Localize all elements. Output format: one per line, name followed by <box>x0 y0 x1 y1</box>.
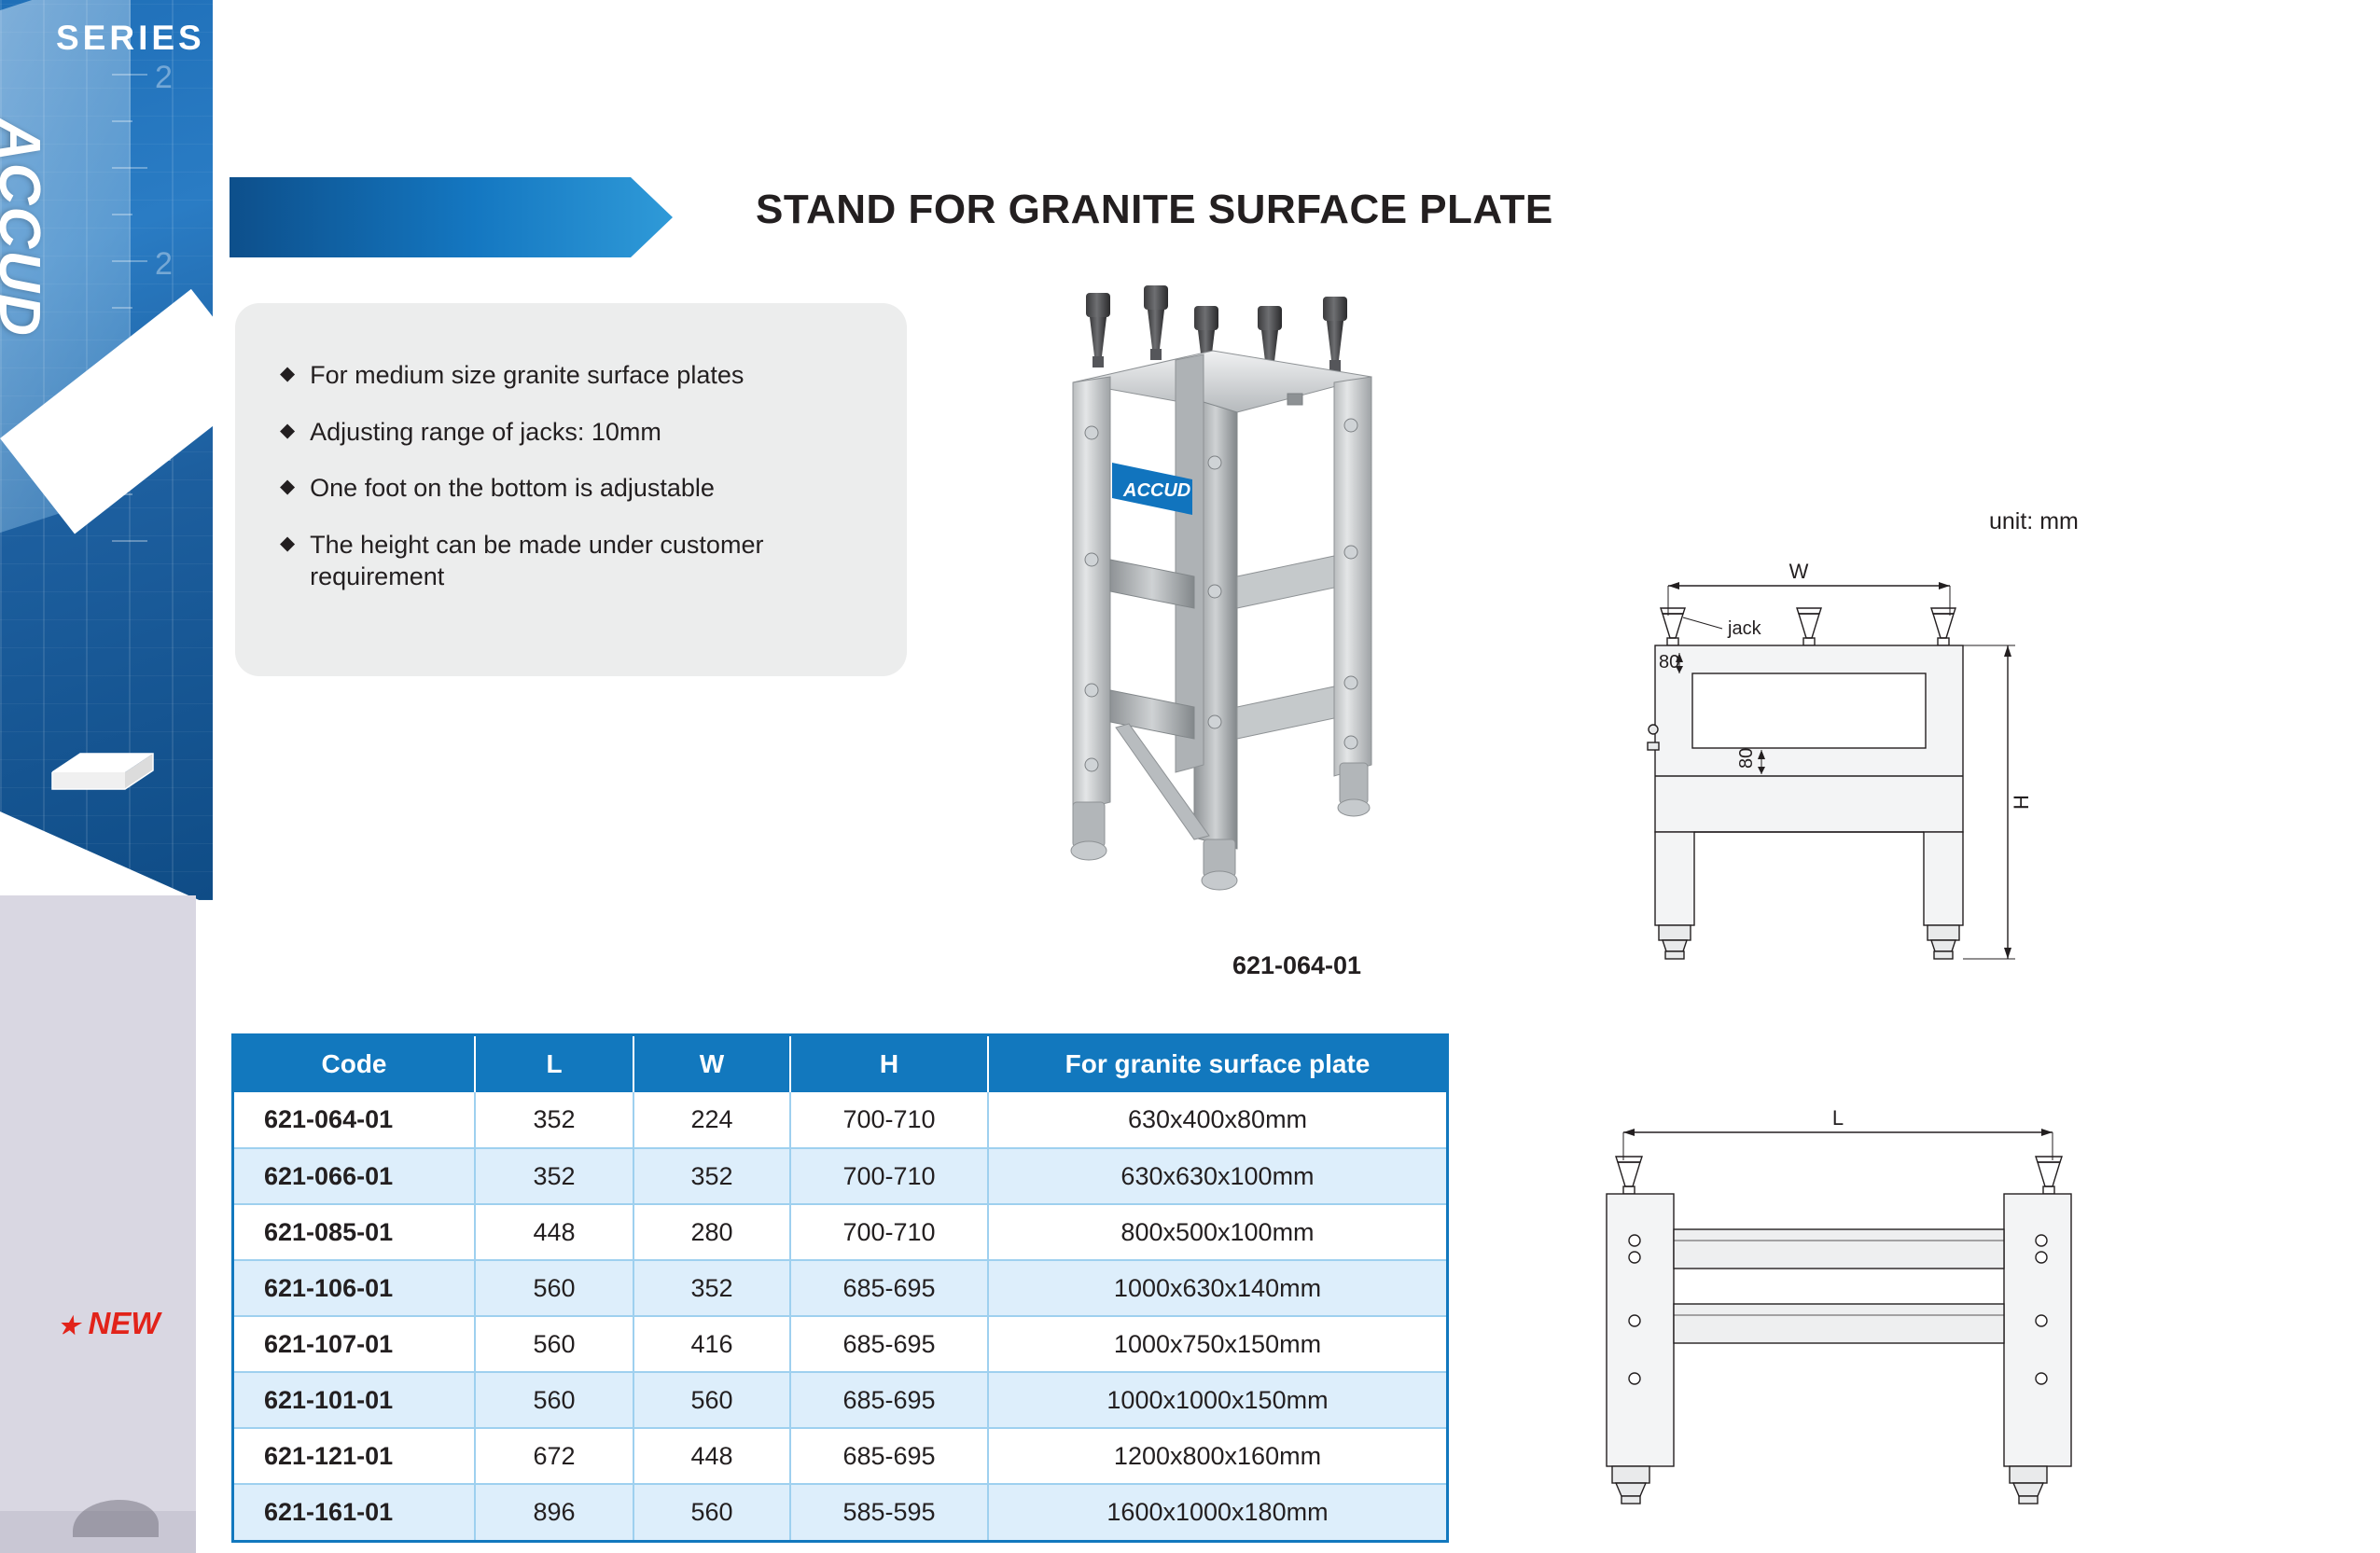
list-item: ◆ Adjusting range of jacks: 10mm <box>280 416 877 449</box>
gauge-icon <box>65 1492 168 1548</box>
list-item: ◆ One foot on the bottom is adjustable <box>280 472 877 505</box>
dim-label-lower-thickness: 80 <box>1736 748 1757 769</box>
column-header-h: H <box>790 1036 988 1092</box>
cell-plate: 1000x630x140mm <box>988 1260 1446 1316</box>
cell-w: 352 <box>633 1148 790 1204</box>
unit-note: unit: mm <box>1989 508 2079 535</box>
cell-h: 685-695 <box>790 1428 988 1484</box>
cell-plate: 800x500x100mm <box>988 1204 1446 1260</box>
column-header-code: Code <box>234 1036 475 1092</box>
cell-h: 700-710 <box>790 1092 988 1148</box>
cell-plate: 1000x750x150mm <box>988 1316 1446 1372</box>
table-row: 621-121-01 672 448 685-695 1200x800x160m… <box>234 1428 1446 1484</box>
table-row: 621-107-01 560 416 685-695 1000x750x150m… <box>234 1316 1446 1372</box>
diamond-bullet-icon: ◆ <box>280 359 295 389</box>
cell-l: 896 <box>475 1484 633 1540</box>
dim-label-h: H <box>2010 795 2033 810</box>
cell-plate: 630x400x80mm <box>988 1092 1446 1148</box>
cell-h: 700-710 <box>790 1204 988 1260</box>
cell-l: 448 <box>475 1204 633 1260</box>
cell-w: 280 <box>633 1204 790 1260</box>
feature-text: The height can be made under customer re… <box>310 529 842 593</box>
front-view-drawing: W jack 80 80 H <box>1642 560 2109 989</box>
column-header-l: L <box>475 1036 633 1092</box>
list-item: ◆ For medium size granite surface plates <box>280 359 877 392</box>
spec-table: Code L W H For granite surface plate 621… <box>234 1036 1446 1540</box>
ruler-ticks-graphic: 2 2 2 <box>112 56 196 709</box>
diamond-bullet-icon: ◆ <box>280 529 295 559</box>
cell-l: 560 <box>475 1316 633 1372</box>
cell-l: 560 <box>475 1260 633 1316</box>
granite-plate-icon <box>49 737 157 802</box>
dim-label-jack: jack <box>1727 618 1762 639</box>
column-header-w: W <box>633 1036 790 1092</box>
photo-caption: 621-064-01 <box>1110 951 1483 980</box>
cell-code: 621-085-01 <box>234 1204 475 1260</box>
diamond-bullet-icon: ◆ <box>280 416 295 446</box>
table-row: 621-101-01 560 560 685-695 1000x1000x150… <box>234 1372 1446 1428</box>
cell-plate: 1000x1000x150mm <box>988 1372 1446 1428</box>
cell-l: 352 <box>475 1148 633 1204</box>
cell-plate: 1600x1000x180mm <box>988 1484 1446 1540</box>
cell-code: 621-106-01 <box>234 1260 475 1316</box>
table-row: 621-066-01 352 352 700-710 630x630x100mm <box>234 1148 1446 1204</box>
svg-text:2: 2 <box>155 246 173 282</box>
cell-code: 621-064-01 <box>234 1092 475 1148</box>
svg-text:2: 2 <box>155 60 173 95</box>
series-tag-shape <box>230 177 715 257</box>
cell-w: 448 <box>633 1428 790 1484</box>
sidebar-lower-panel <box>0 895 196 1553</box>
star-icon: ★ <box>58 1311 79 1339</box>
brand-logo-vertical: ACCUD <box>0 119 52 474</box>
cell-w: 560 <box>633 1372 790 1428</box>
side-view-drawing: L <box>1586 1110 2127 1520</box>
list-item: ◆ The height can be made under customer … <box>280 529 877 593</box>
cell-code: 621-107-01 <box>234 1316 475 1372</box>
cell-h: 700-710 <box>790 1148 988 1204</box>
table-row: 621-085-01 448 280 700-710 800x500x100mm <box>234 1204 1446 1260</box>
features-list: ◆ For medium size granite surface plates… <box>280 359 877 617</box>
series-label: SERIES 621 <box>56 19 287 58</box>
table-row: 621-064-01 352 224 700-710 630x400x80mm <box>234 1092 1446 1148</box>
page-title: STAND FOR GRANITE SURFACE PLATE <box>756 187 1553 233</box>
cell-h: 585-595 <box>790 1484 988 1540</box>
cell-h: 685-695 <box>790 1372 988 1428</box>
feature-text: One foot on the bottom is adjustable <box>310 472 715 505</box>
svg-text:2: 2 <box>155 433 173 468</box>
cell-plate: 1200x800x160mm <box>988 1428 1446 1484</box>
dim-label-top-thickness: 80 <box>1659 652 1679 673</box>
cell-code: 621-066-01 <box>234 1148 475 1204</box>
cell-l: 672 <box>475 1428 633 1484</box>
cell-w: 224 <box>633 1092 790 1148</box>
column-header-plate: For granite surface plate <box>988 1036 1446 1092</box>
table-row: 621-161-01 896 560 585-595 1600x1000x180… <box>234 1484 1446 1540</box>
product-photo: ACCUD <box>1054 280 1539 970</box>
cell-code: 621-161-01 <box>234 1484 475 1540</box>
table-row: 621-106-01 560 352 685-695 1000x630x140m… <box>234 1260 1446 1316</box>
feature-text: For medium size granite surface plates <box>310 359 744 392</box>
new-badge-text: NEW <box>88 1306 160 1340</box>
cell-w: 352 <box>633 1260 790 1316</box>
feature-text: Adjusting range of jacks: 10mm <box>310 416 661 449</box>
cell-code: 621-101-01 <box>234 1372 475 1428</box>
cell-h: 685-695 <box>790 1316 988 1372</box>
svg-text:ACCUD: ACCUD <box>1122 480 1190 501</box>
new-badge: ★ NEW <box>58 1306 160 1341</box>
cell-w: 416 <box>633 1316 790 1372</box>
cell-l: 352 <box>475 1092 633 1148</box>
catalog-page: 2 2 2 ACCUD <box>0 0 2380 1553</box>
cell-h: 685-695 <box>790 1260 988 1316</box>
cell-code: 621-121-01 <box>234 1428 475 1484</box>
cell-l: 560 <box>475 1372 633 1428</box>
dim-label-w: W <box>1789 560 1809 583</box>
table-header-row: Code L W H For granite surface plate <box>234 1036 1446 1092</box>
features-panel: ◆ For medium size granite surface plates… <box>235 303 907 676</box>
cell-w: 560 <box>633 1484 790 1540</box>
dim-label-l: L <box>1832 1110 1844 1130</box>
cell-plate: 630x630x100mm <box>988 1148 1446 1204</box>
spec-table-wrapper: Code L W H For granite surface plate 621… <box>231 1033 1449 1543</box>
diamond-bullet-icon: ◆ <box>280 472 295 502</box>
